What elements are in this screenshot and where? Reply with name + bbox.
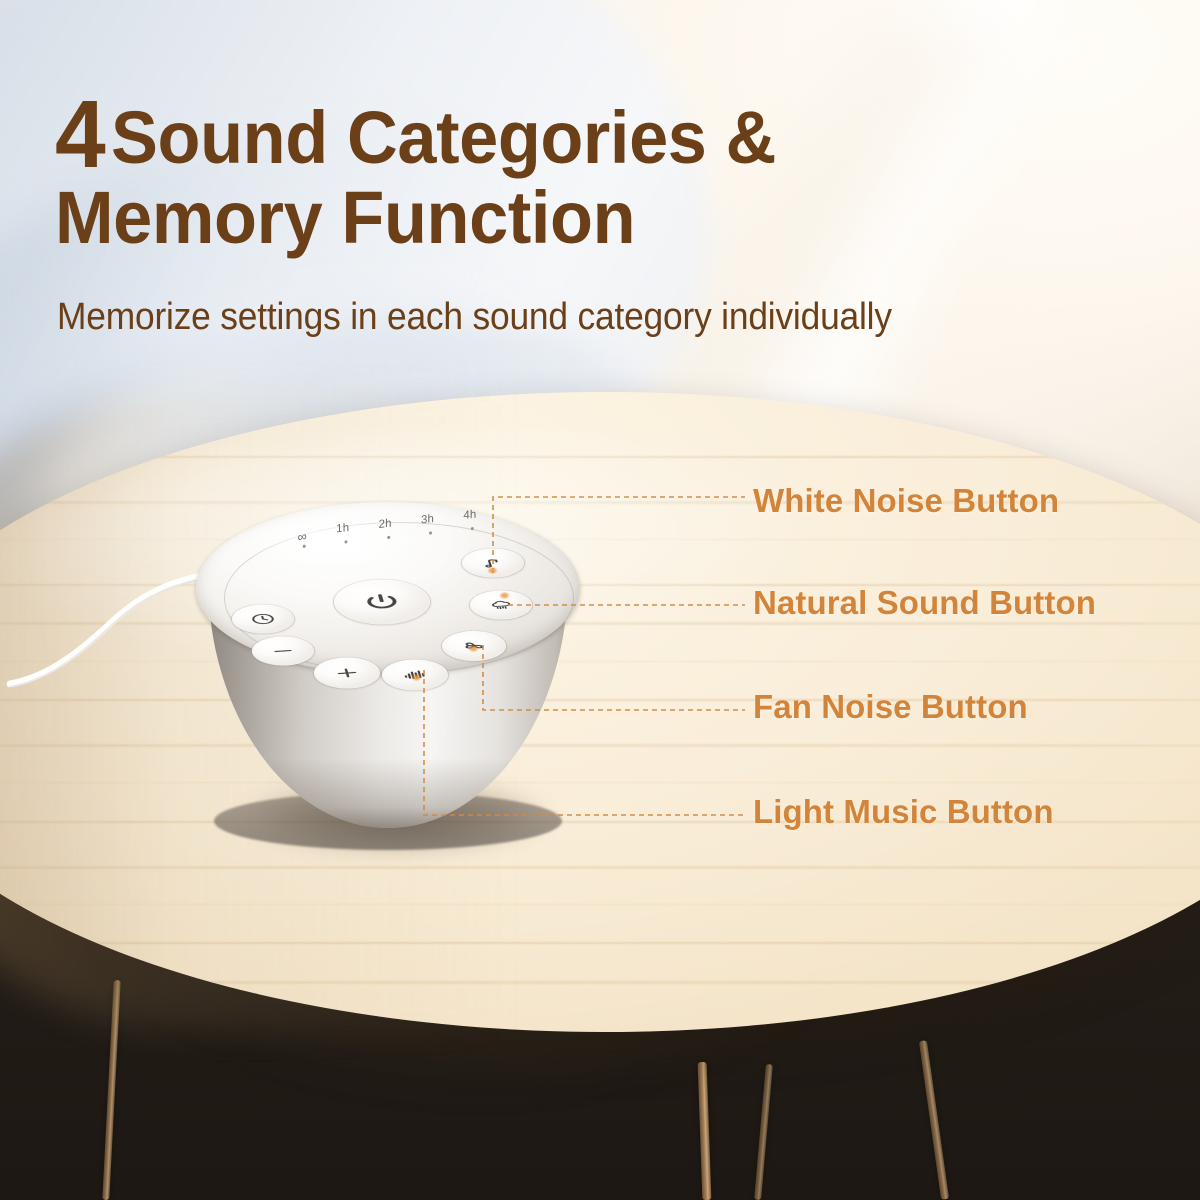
hotspot-light-music [410,673,423,682]
callout-label-natural-sound: Natural Sound Button [753,584,1096,622]
hotspot-fan-noise [467,644,480,653]
product-infographic: ∞ 1h 2h 3h 4h [0,0,1200,1200]
subheadline: Memorize settings in each sound category… [57,296,892,339]
headline: 4Sound Categories & Memory Function [55,92,955,258]
headline-number: 4 [55,81,105,188]
headline-line-1: 4Sound Categories & [55,92,910,178]
headline-line-2: Memory Function [55,178,910,258]
hotspot-white-noise [486,566,499,575]
headline-line-1-text: Sound Categories & [111,96,776,179]
callout-label-white-noise: White Noise Button [753,482,1059,520]
hotspot-natural-sound [498,591,511,600]
callout-label-light-music: Light Music Button [753,793,1054,831]
callout-label-fan-noise: Fan Noise Button [753,688,1028,726]
